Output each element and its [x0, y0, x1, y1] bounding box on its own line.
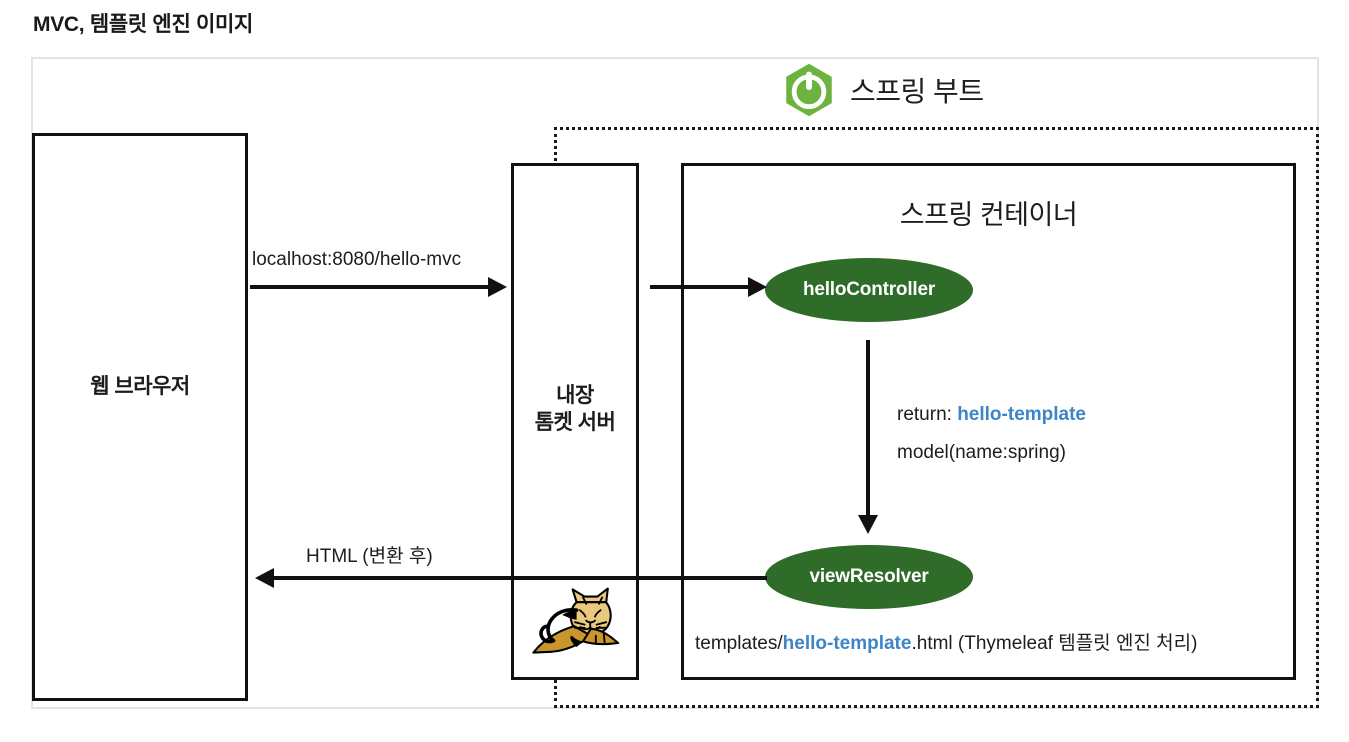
- request-arrow-line: [250, 285, 490, 289]
- template-path-annotation: templates/hello-template.html (Thymeleaf…: [695, 628, 1197, 655]
- spring-container-title: 스프링 컨테이너: [681, 193, 1296, 232]
- request-arrow-head-icon: [488, 277, 507, 297]
- embedded-tomcat-label: 내장 톰켓 서버: [511, 383, 639, 437]
- view-resolver-label: viewResolver: [809, 566, 928, 588]
- model-annotation: model(name:spring): [897, 442, 1066, 464]
- tomcat-logo-container: [527, 586, 623, 660]
- spring-boot-logo-icon: [780, 62, 838, 118]
- template-suffix: .html (Thymeleaf 템플릿 엔진 처리): [911, 633, 1197, 654]
- tomcat-cat-logo-icon: [527, 586, 623, 660]
- dispatch-arrow-line: [650, 285, 750, 289]
- spring-boot-header: 스프링 부트: [780, 62, 984, 118]
- spring-boot-label: 스프링 부트: [850, 70, 984, 110]
- render-flow-arrow-line: [866, 340, 870, 522]
- render-flow-arrow-head-icon: [858, 515, 878, 534]
- web-browser-box: [32, 133, 248, 701]
- view-resolver-node: viewResolver: [765, 545, 973, 609]
- return-annotation: return: hello-template: [897, 404, 1086, 426]
- page-title: MVC, 템플릿 엔진 이미지: [33, 8, 253, 38]
- response-arrow-line: [272, 576, 767, 580]
- template-value: hello-template: [783, 633, 912, 654]
- response-html-label: HTML (변환 후): [306, 541, 433, 568]
- diagram-page: MVC, 템플릿 엔진 이미지 스프링 부트 웹 브라우저 내장 톰켓 서버: [0, 0, 1349, 742]
- template-prefix: templates/: [695, 633, 783, 654]
- hello-controller-node: helloController: [765, 258, 973, 322]
- response-arrow-head-icon: [255, 568, 274, 588]
- request-url-label: localhost:8080/hello-mvc: [252, 249, 461, 271]
- return-prefix: return:: [897, 404, 957, 425]
- return-value: hello-template: [957, 404, 1086, 425]
- web-browser-label: 웹 브라우저: [32, 374, 248, 401]
- hello-controller-label: helloController: [803, 279, 935, 301]
- dispatch-arrow-head-icon: [748, 277, 767, 297]
